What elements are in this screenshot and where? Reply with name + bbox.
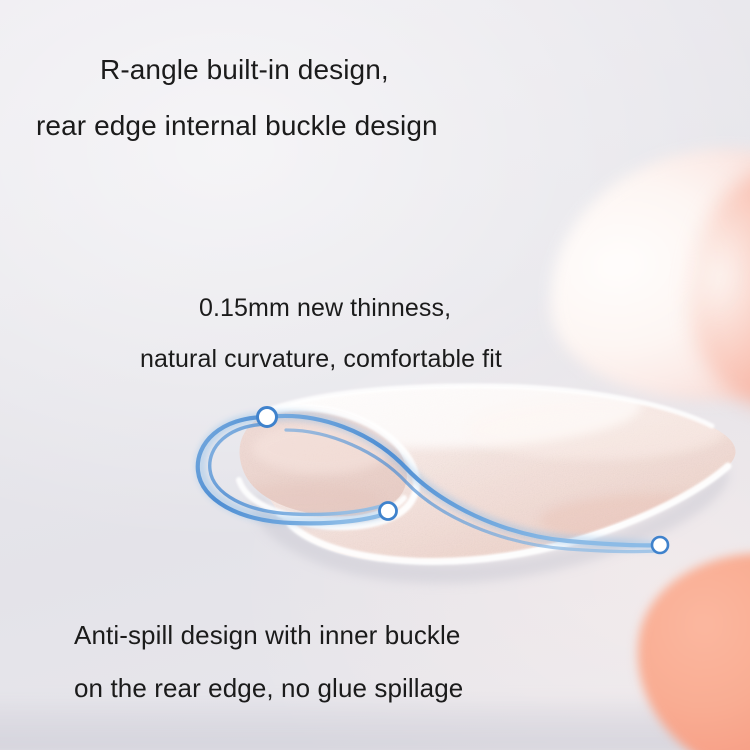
bottomline-text: Anti-spill design with inner buckle on t… xyxy=(0,609,750,715)
midline-text: 0.15mm new thinness, natural curvature, … xyxy=(0,283,750,385)
headline-line-1: R-angle built-in design, xyxy=(0,42,750,98)
bottomline-line-1: Anti-spill design with inner buckle xyxy=(0,609,750,662)
bottomline-line-2: on the rear edge, no glue spillage xyxy=(0,662,750,715)
marker-rear-edge[interactable] xyxy=(652,537,668,553)
headline-line-2: rear edge internal buckle design xyxy=(0,98,750,154)
marker-inner-buckle[interactable] xyxy=(380,503,397,520)
product-feature-image: R-angle built-in design, rear edge inter… xyxy=(0,0,750,750)
midline-line-1: 0.15mm new thinness, xyxy=(0,283,750,334)
midline-line-2: natural curvature, comfortable fit xyxy=(0,334,750,385)
marker-front-fold[interactable] xyxy=(258,408,277,427)
headline-text: R-angle built-in design, rear edge inter… xyxy=(0,42,750,154)
